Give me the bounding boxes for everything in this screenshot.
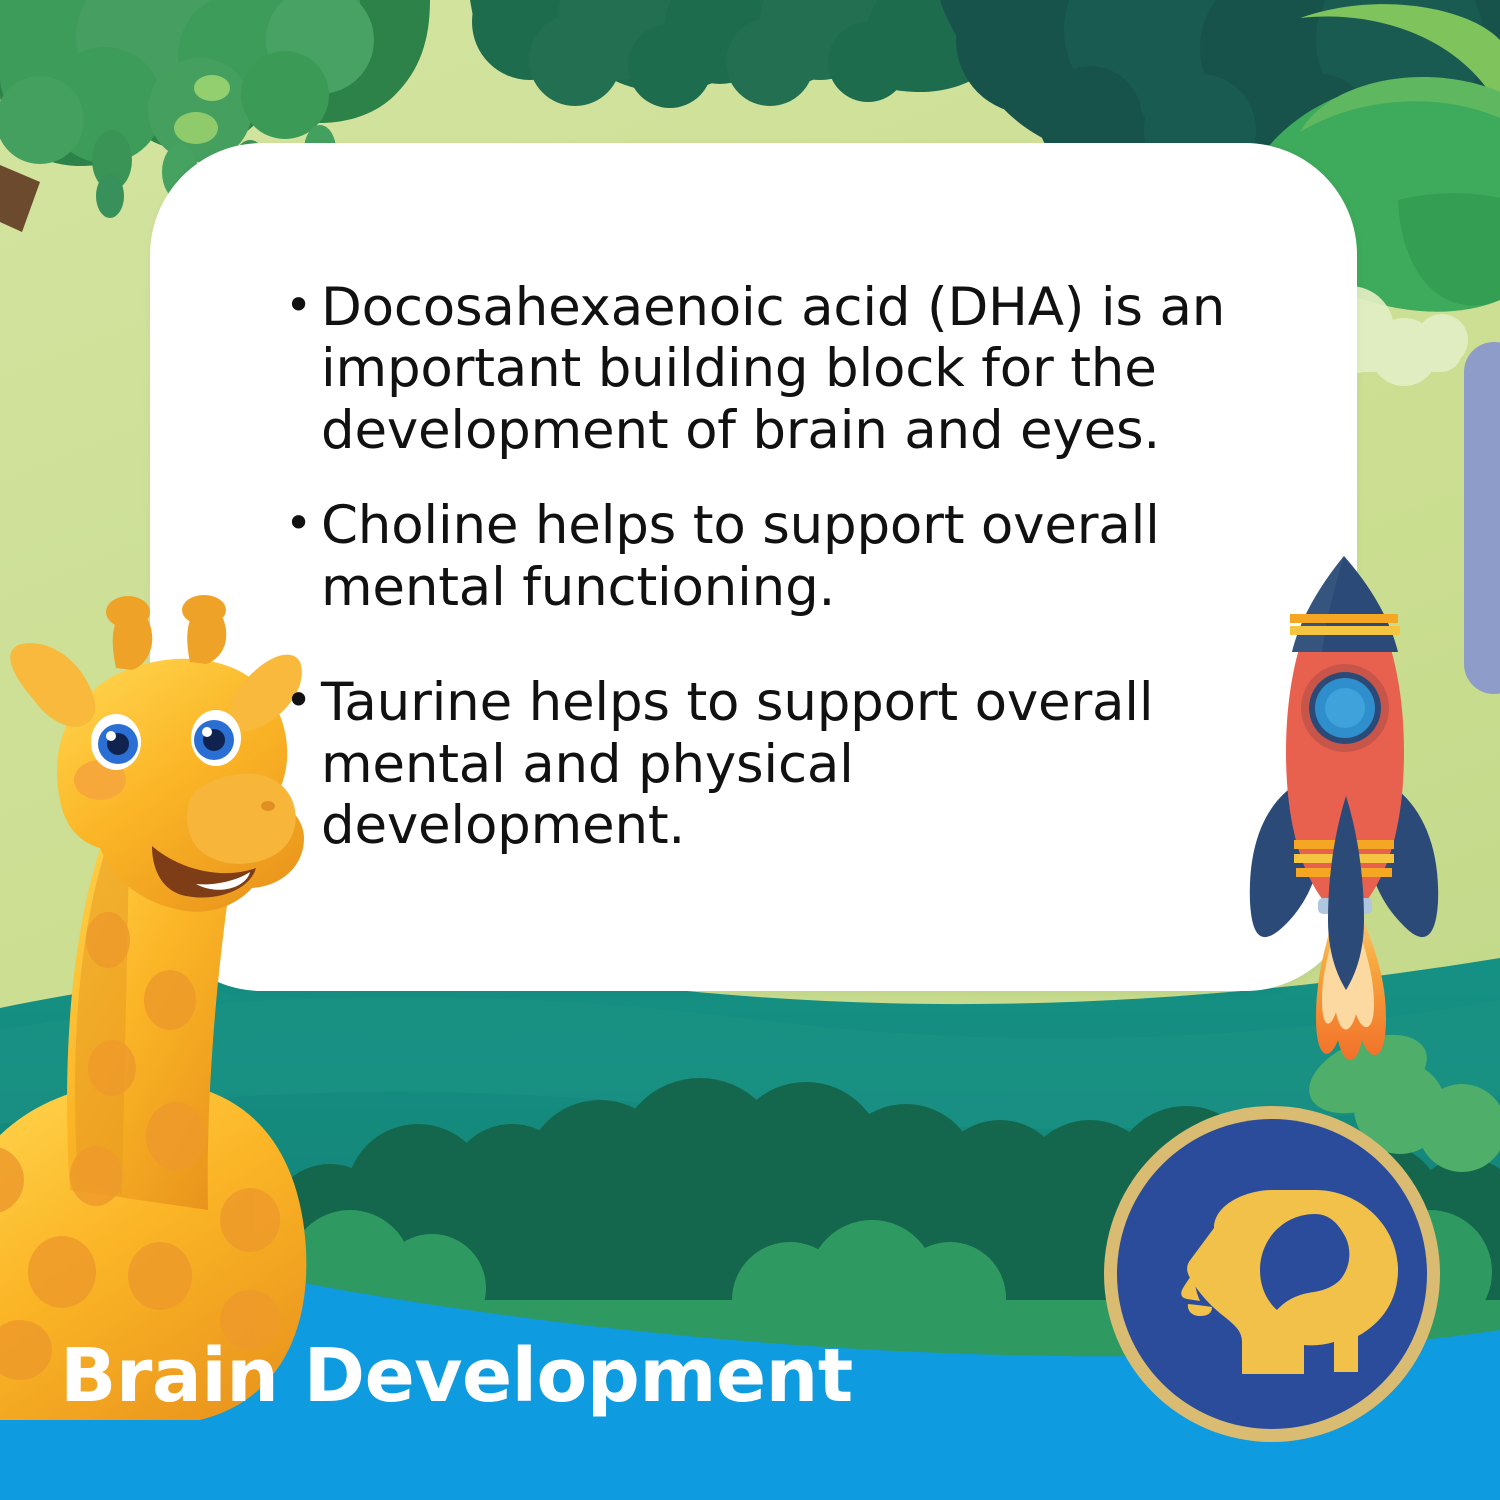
bullet-marker-icon: • [285,277,321,334]
page-title: Brain Development [60,1333,853,1419]
bullet-text: Taurine helps to support overall mental … [321,672,1201,856]
bullet-item: • Choline helps to support overall menta… [285,495,1345,618]
bullet-item: • Taurine helps to support overall menta… [285,672,1345,856]
bullet-marker-icon: • [285,495,321,552]
bullet-text: Choline helps to support overall mental … [321,495,1321,618]
brain-badge [1102,1104,1442,1444]
bullet-list: • Docosahexaenoic acid (DHA) is an impor… [285,277,1345,891]
bullet-item: • Docosahexaenoic acid (DHA) is an impor… [285,277,1345,461]
bullet-text: Docosahexaenoic acid (DHA) is an importa… [321,277,1226,461]
poster-canvas: • Docosahexaenoic acid (DHA) is an impor… [0,0,1500,1500]
bullet-marker-icon: • [285,672,321,729]
